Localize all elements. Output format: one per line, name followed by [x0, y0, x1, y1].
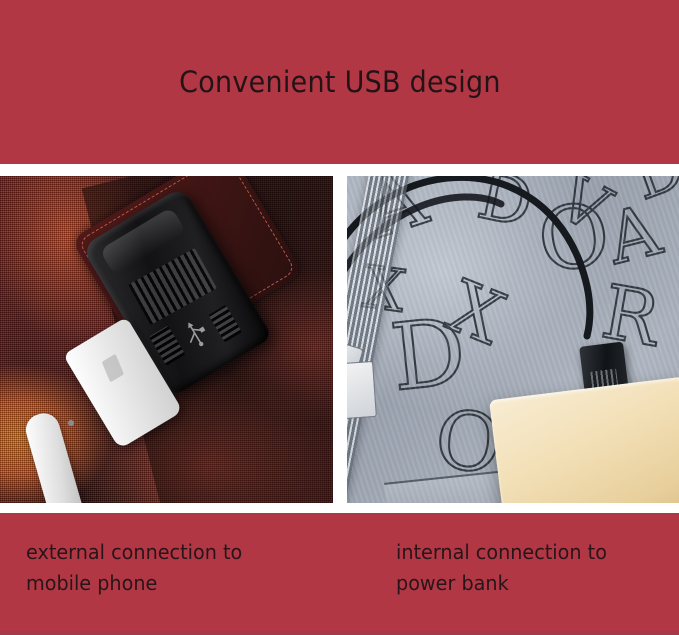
caption-external-connection: external connection to mobile phone: [26, 537, 242, 599]
housing-vent-right: [208, 305, 242, 343]
bottom-edge-line: [0, 631, 679, 635]
caption-band: external connection to mobile phone inte…: [0, 513, 679, 635]
usb-trident-icon: [176, 314, 214, 353]
interior-label-tag: [347, 361, 377, 419]
caption-internal-connection: internal connection to power bank: [396, 537, 607, 599]
housing-grip-lines: [128, 248, 217, 325]
internal-power-bank-photo: ADOXDVARDOADX: [347, 176, 679, 505]
page-title: Convenient USB design: [179, 65, 501, 99]
external-usb-port-photo: [0, 176, 333, 505]
poster-header: Convenient USB design: [0, 0, 679, 164]
product-feature-poster: Convenient USB design: [0, 0, 679, 635]
photo-column-divider: [333, 164, 347, 513]
